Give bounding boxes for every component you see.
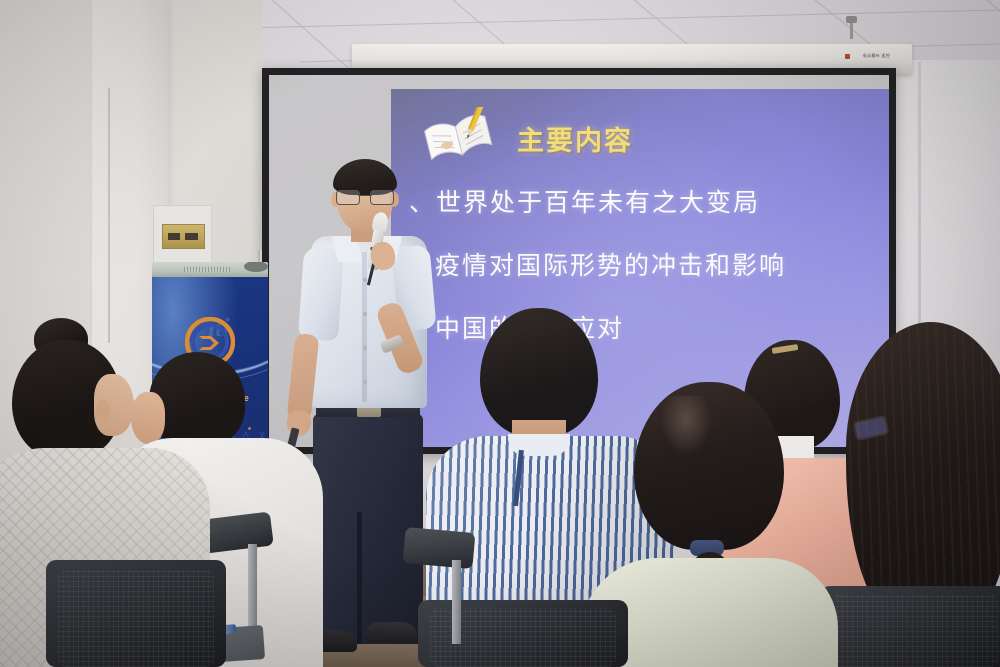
socket-slot-right [185,233,198,240]
slide-title-row: 主要内容 [421,103,851,167]
conference-room-photo: 电动幕布 遥控 [0,0,1000,667]
chair-armrest [403,527,476,569]
office-chair[interactable] [820,586,1000,667]
chair-mesh-panel [58,570,214,667]
presenter-glasses [335,190,395,203]
slide-line-2: 疫情对国际形势的冲击和影响 [399,246,889,282]
screen-housing-label: 电动幕布 遥控 [863,53,890,59]
slide-title: 主要内容 [517,119,633,158]
audience-hair [846,322,1000,622]
slide-line-1: 、世界处于百年未有之大变局 [399,183,889,219]
presenter-leg-gap [357,512,362,644]
chair-mesh-panel [832,594,998,667]
shirt-collar [508,434,570,456]
hair-highlight [660,396,712,456]
presenter-shirt-button [363,278,367,282]
audience-head [480,308,598,436]
podium-top-surface [152,262,268,278]
gold-wall-socket-panel[interactable] [153,205,212,265]
podium-knob [244,262,268,272]
glasses-lens-right [370,190,394,205]
podium-vent [184,267,230,272]
status-led-icon [845,54,850,59]
presenter-shirt-button [363,380,367,384]
socket-faceplate [162,224,205,249]
office-chair-armrest[interactable] [404,512,500,667]
glasses-lens-left [336,190,360,205]
office-chair[interactable] [46,560,226,667]
glasses-bridge [358,195,372,196]
presenter-shirt-button [363,346,367,350]
presenter-shirt-button [363,312,367,316]
pillar-edge-line [108,88,110,343]
ceiling-sprinkler-head [846,16,857,23]
socket-slot-left [168,233,180,240]
audience-ear [96,400,110,420]
chair-post [452,560,461,644]
